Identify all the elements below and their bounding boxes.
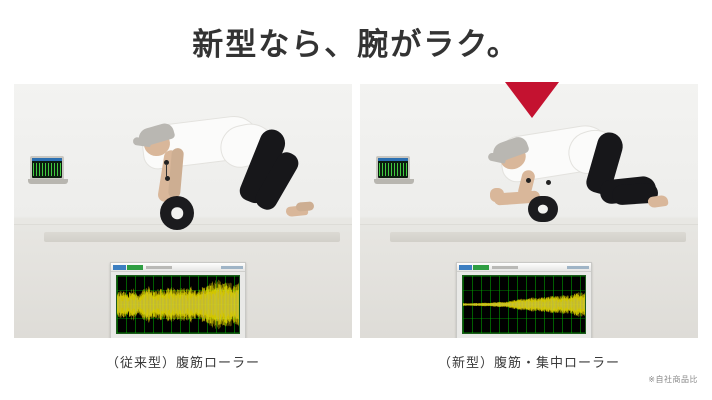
comparison-infographic: 新型なら、腕がラク。 <box>0 0 712 400</box>
red-down-arrow-icon <box>505 82 559 118</box>
ab-roller <box>160 196 194 230</box>
sensor-wire <box>166 164 167 177</box>
panel-conventional <box>14 84 352 338</box>
emg-graph-window-new-model[interactable] <box>456 262 592 338</box>
fist <box>490 188 504 202</box>
window-controls-icon <box>567 266 589 269</box>
foot <box>647 195 668 209</box>
page-title: 新型なら、腕がラク。 <box>0 24 712 66</box>
emg-window-titlebar <box>111 263 245 272</box>
emg-window-titlebar <box>457 263 591 272</box>
foot-far <box>296 201 315 211</box>
record-status-icon <box>127 265 143 270</box>
ab-roller <box>528 196 558 222</box>
window-menu-icon <box>113 265 126 270</box>
panel-new-model <box>360 84 698 338</box>
emg-trace-new-model <box>463 276 585 333</box>
caption-conventional: （従来型）腹筋ローラー <box>14 352 352 371</box>
person-conventional <box>14 84 352 254</box>
window-title-placeholder <box>146 266 172 269</box>
window-controls-icon <box>221 266 243 269</box>
caption-new-model: （新型）腹筋・集中ローラー <box>360 352 698 371</box>
emg-sensor <box>526 178 531 183</box>
emg-plot-area-conventional <box>116 275 240 334</box>
emg-trace-conventional <box>117 276 239 333</box>
emg-sensor <box>546 180 551 185</box>
roller-hub <box>538 205 548 214</box>
roller-hub <box>171 207 183 219</box>
window-title-placeholder <box>492 266 518 269</box>
record-status-icon <box>473 265 489 270</box>
window-menu-icon <box>459 265 472 270</box>
emg-plot-area-new-model <box>462 275 586 334</box>
emg-graph-window-conventional[interactable] <box>110 262 246 338</box>
cap-brim <box>133 137 152 147</box>
footnote: ※自社商品比 <box>648 374 698 385</box>
